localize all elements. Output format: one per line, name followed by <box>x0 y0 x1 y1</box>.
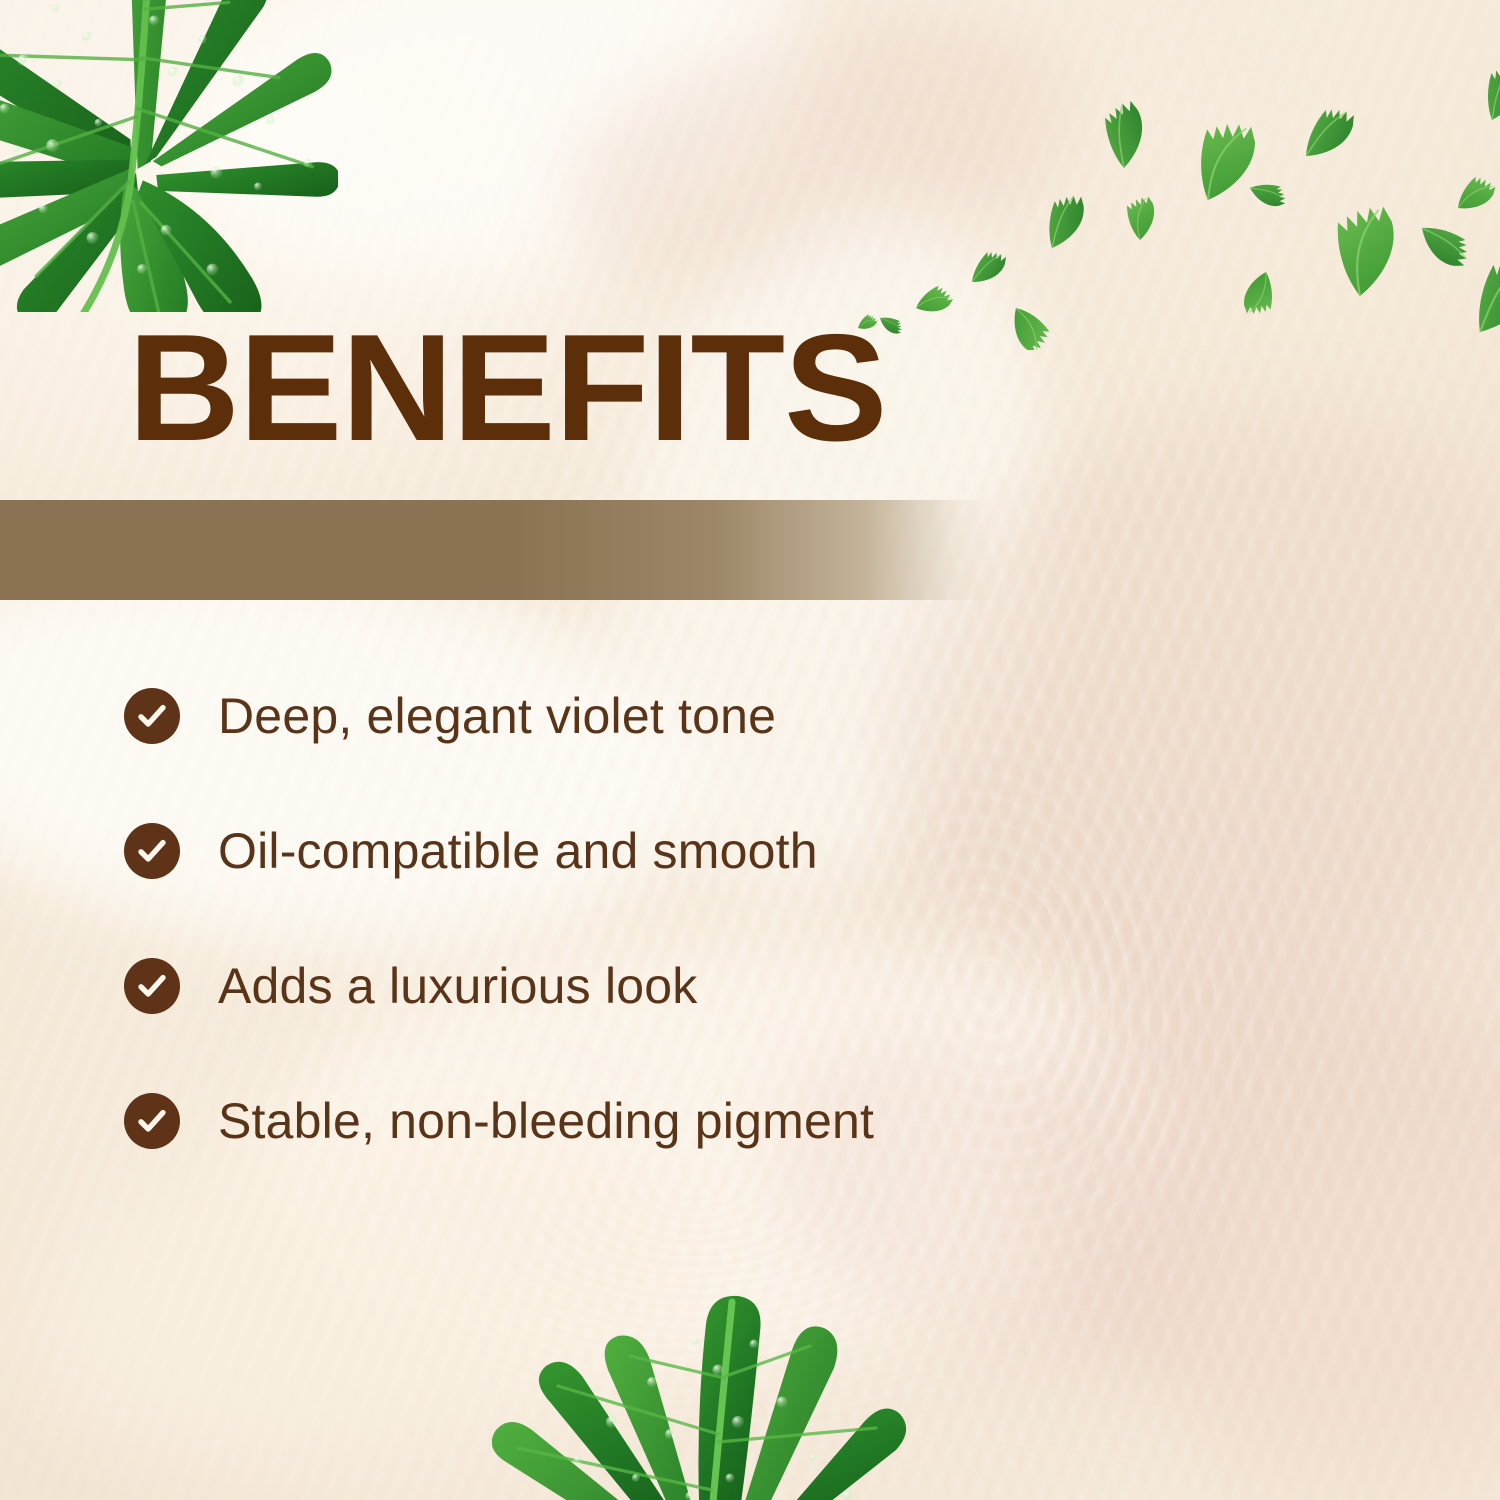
title-divider-bar <box>0 500 995 600</box>
benefit-label: Adds a luxurious look <box>218 961 697 1011</box>
page-title: BENEFITS <box>128 312 886 464</box>
list-item: Oil-compatible and smooth <box>124 823 874 879</box>
check-circle-icon <box>124 958 180 1014</box>
benefit-label: Deep, elegant violet tone <box>218 691 776 741</box>
benefits-poster: BENEFITS Deep, elegant violet tone Oil-c… <box>0 0 1500 1500</box>
poster-content: BENEFITS Deep, elegant violet tone Oil-c… <box>0 0 1500 1500</box>
list-item: Adds a luxurious look <box>124 958 874 1014</box>
benefit-label: Oil-compatible and smooth <box>218 826 818 876</box>
check-circle-icon <box>124 688 180 744</box>
check-circle-icon <box>124 1093 180 1149</box>
benefit-label: Stable, non-bleeding pigment <box>218 1096 874 1146</box>
check-circle-icon <box>124 823 180 879</box>
list-item: Stable, non-bleeding pigment <box>124 1093 874 1149</box>
list-item: Deep, elegant violet tone <box>124 688 874 744</box>
benefits-list: Deep, elegant violet tone Oil-compatible… <box>124 688 874 1149</box>
